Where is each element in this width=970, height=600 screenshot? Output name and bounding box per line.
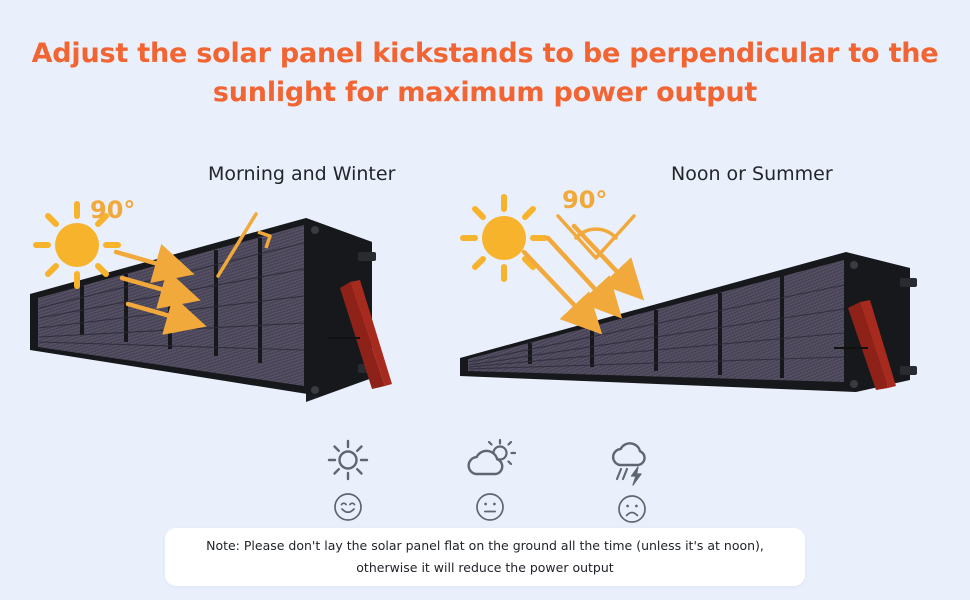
smiley-happy-icon [333,492,363,522]
panel-caption-morning-winter: Morning and Winter [208,163,395,185]
partly-cloudy-icon [464,438,516,486]
sun-icon-right [463,197,545,279]
weather-rating-row [300,438,680,520]
angle-label-right: 90° [562,190,607,214]
weather-item-partly-cloudy [442,438,538,522]
panel-caption-noon-summer: Noon or Summer [671,163,833,185]
weather-item-sunny [300,438,396,522]
page-title-line-2: sunlight for maximum power output [0,73,970,112]
note-line-1: Note: Please don't lay the solar panel f… [206,535,764,557]
note-line-2: otherwise it will reduce the power outpu… [356,557,613,579]
note-box: Note: Please don't lay the solar panel f… [165,528,805,586]
angle-label-left: 90° [90,196,135,224]
thunderstorm-icon [607,438,657,488]
page-title: Adjust the solar panel kickstands to be … [0,34,970,112]
infographic-root: Adjust the solar panel kickstands to be … [0,0,970,600]
illustration-noon-summer: 90° [448,190,953,440]
sun-icon [324,438,372,486]
smiley-neutral-icon [475,492,505,522]
solar-panel-right [460,252,917,392]
smiley-sad-icon [617,494,647,524]
page-title-line-1: Adjust the solar panel kickstands to be … [0,34,970,73]
weather-item-thunderstorm [584,438,680,524]
illustration-morning-winter: 90° [20,190,440,440]
